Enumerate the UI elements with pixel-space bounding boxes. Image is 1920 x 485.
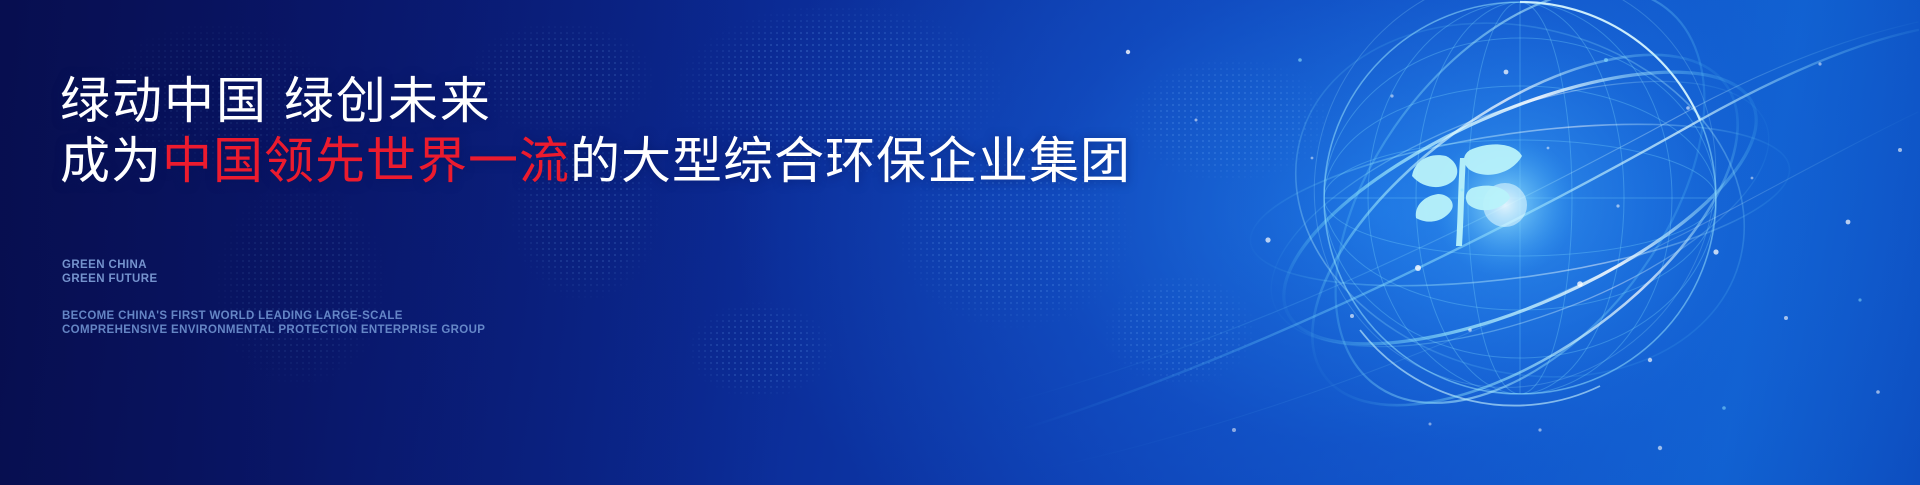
sprout-seedling-icon bbox=[1412, 144, 1522, 246]
headline-primary: 绿动中国 绿创未来 bbox=[60, 76, 492, 126]
headline-secondary-prefix: 成为 bbox=[60, 133, 162, 189]
tagline-line-2: GREEN FUTURE bbox=[62, 272, 158, 286]
headline-secondary-highlight: 中国领先世界一流 bbox=[162, 133, 570, 189]
banner-copy: 绿动中国 绿创未来 成为中国领先世界一流的大型综合环保企业集团 GREEN CH… bbox=[60, 0, 1060, 485]
blurb-line-1: BECOME CHINA'S FIRST WORLD LEADING LARGE… bbox=[62, 310, 485, 324]
headline-secondary-suffix: 的大型综合环保企业集团 bbox=[570, 133, 1131, 189]
headline-primary-text: 绿动中国 绿创未来 bbox=[60, 73, 492, 129]
blurb-line-2: COMPREHENSIVE ENVIRONMENTAL PROTECTION E… bbox=[62, 324, 485, 338]
tagline-block: GREEN CHINA GREEN FUTURE bbox=[62, 258, 158, 286]
globe-graphic bbox=[1000, 0, 1920, 485]
headline-secondary: 成为中国领先世界一流的大型综合环保企业集团 bbox=[60, 136, 1131, 186]
tagline-line-1: GREEN CHINA bbox=[62, 258, 158, 272]
blurb-block: BECOME CHINA'S FIRST WORLD LEADING LARGE… bbox=[62, 310, 485, 337]
promo-banner: 绿动中国 绿创未来 成为中国领先世界一流的大型综合环保企业集团 GREEN CH… bbox=[0, 0, 1920, 485]
